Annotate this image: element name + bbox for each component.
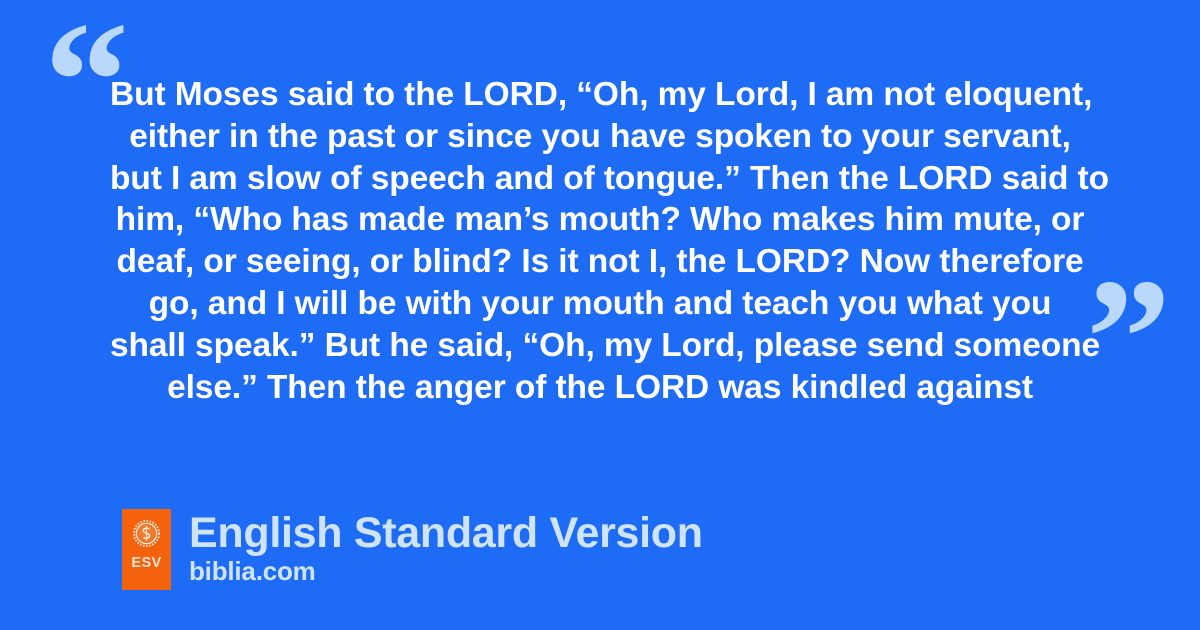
footer-text-group: English Standard Version biblia.com <box>189 509 703 586</box>
site-url-label[interactable]: biblia.com <box>189 556 703 586</box>
quote-line: shall speak.” But he said, “Oh, my Lord,… <box>110 325 1090 367</box>
quote-line: but I am slow of speech and of tongue.” … <box>110 158 1090 200</box>
quote-line: deaf, or seeing, or blind? Is it not I, … <box>110 241 1090 283</box>
esv-seal-icon <box>133 520 160 547</box>
esv-badge-label: ESV <box>131 556 161 571</box>
bible-version-name: English Standard Version <box>189 510 703 556</box>
quote-line: But Moses said to the LORD, “Oh, my Lord… <box>110 74 1090 116</box>
quote-line: him, “Who has made man’s mouth? Who make… <box>110 199 1090 241</box>
quote-line: go, and I will be with your mouth and te… <box>110 283 1090 325</box>
quote-card: “ ” But Moses said to the LORD, “Oh, my … <box>0 0 1200 630</box>
quote-line: else.” Then the anger of the LORD was ki… <box>110 367 1090 409</box>
scripture-quote-text: But Moses said to the LORD, “Oh, my Lord… <box>110 74 1090 408</box>
quote-line: either in the past or since you have spo… <box>110 116 1090 158</box>
esv-logo-badge: ESV <box>122 509 171 590</box>
attribution-footer: ESV English Standard Version biblia.com <box>122 509 703 590</box>
